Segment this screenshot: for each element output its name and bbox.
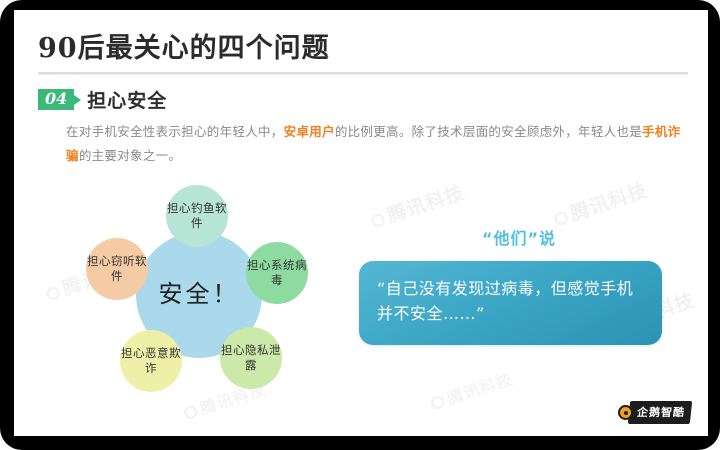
diagram-node-phishing: 担心钓鱼软件: [166, 185, 228, 247]
diagram-node-virus: 担心系统病毒: [246, 242, 308, 304]
diagram-node-privacy: 担心隐私泄露: [220, 327, 282, 389]
quote-heading: “他们”说: [359, 225, 679, 249]
paragraph-text-1: 在对手机安全性表示担心的年轻人中，: [66, 124, 284, 139]
paragraph-text-2: 的比例更高。除了技术层面的安全顾虑外，年轻人也是: [335, 124, 642, 139]
brand-logo: 企鹅智酷: [615, 399, 694, 426]
quote-section: “他们”说 “自己没有发现过病毒，但感觉手机并不安全……”: [359, 225, 679, 345]
diagram-node-eavesdrop: 担心窃听软件: [86, 238, 148, 300]
paragraph-highlight-1: 安卓用户: [284, 124, 335, 139]
watermark-dot-icon: [430, 394, 446, 410]
watermark-text: 腾讯科技: [568, 179, 651, 225]
section-heading: 04 担心安全: [38, 86, 167, 113]
body-paragraph: 在对手机安全性表示担心的年轻人中，安卓用户的比例更高。除了技术层面的安全顾虑外，…: [66, 120, 686, 169]
paragraph-text-3: 的主要对象之一。: [79, 148, 181, 163]
slide-bezel: 腾讯科技 腾讯科技 腾讯科技 腾讯科技 腾讯科技 腾讯科技 90后最关心的四个问…: [0, 0, 720, 450]
page-title: 90后最关心的四个问题: [38, 26, 330, 65]
diagram-node-fraud: 担心恶意欺诈: [120, 330, 182, 392]
quote-bubble: “自己没有发现过病毒，但感觉手机并不安全……”: [359, 261, 662, 345]
safety-concerns-diagram: 安全！ 担心钓鱼软件 担心系统病毒 担心隐私泄露 担心恶意欺诈 担心窃听软件: [74, 180, 344, 405]
watermark-text: 腾讯科技: [445, 369, 516, 408]
logo-text: 企鹅智酷: [628, 401, 692, 424]
watermark-dot-icon: [45, 285, 61, 301]
section-number-badge: 04: [38, 89, 74, 110]
watermark-dot-icon: [183, 404, 199, 420]
watermark-text: 腾讯科技: [385, 181, 468, 227]
slide-page: 腾讯科技 腾讯科技 腾讯科技 腾讯科技 腾讯科技 腾讯科技 90后最关心的四个问…: [14, 10, 708, 436]
penguin-sun-icon: [618, 405, 633, 420]
watermark: 腾讯科技: [550, 176, 651, 232]
section-title: 担心安全: [87, 86, 167, 113]
watermark: 腾讯科技: [427, 365, 515, 414]
title-divider: [38, 72, 688, 75]
